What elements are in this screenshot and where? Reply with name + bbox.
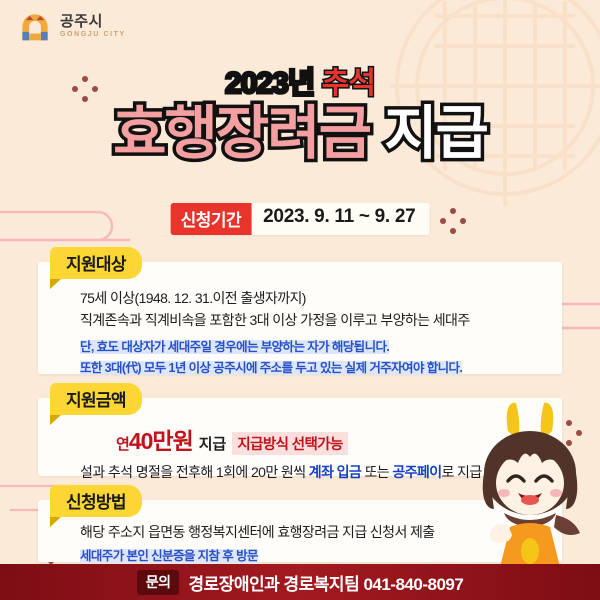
poster-canvas: 공주시 GONGJU CITY 2023년 추석 효행장려금 지급 신청기간 2… (0, 0, 600, 600)
application-period-value: 2023. 9. 11 ~ 9. 27 (251, 203, 429, 235)
eligibility-note-2: 또한 3대(代) 모두 1년 이상 공주시에 주소를 두고 있는 실제 거주자여… (80, 358, 562, 378)
application-period-badge: 신청기간 2023. 9. 11 ~ 9. 27 (171, 203, 430, 235)
eligibility-line-2: 직계존속과 직계비속을 포함한 3대 이상 가정을 이루고 부양하는 세대주 (80, 310, 562, 332)
howto-tab: 신청방법 (50, 485, 142, 517)
logo-english-name: GONGJU CITY (60, 31, 126, 38)
title-action-label: 지급 (370, 101, 487, 166)
eligibility-line-1: 75세 이상(1948. 12. 31.이전 출생자까지) (80, 288, 562, 310)
eligibility-tab: 지원대상 (50, 247, 142, 279)
gongju-gate-logo-icon (18, 10, 52, 42)
city-logo: 공주시 GONGJU CITY (18, 10, 126, 42)
amount-suffix: 지급 (199, 433, 227, 454)
poster-title: 2023년 추석 효행장려금 지급 (0, 58, 600, 165)
eligibility-card: 지원대상 75세 이상(1948. 12. 31.이전 출생자까지) 직계존속과… (38, 262, 562, 374)
title-line-1: 2023년 추석 (0, 58, 600, 102)
amount-tab: 지원금액 (50, 383, 142, 415)
title-line-2: 효행장려금 지급 (0, 104, 600, 165)
gongju-mascot-girl-icon (464, 401, 596, 586)
application-period-label: 신청기간 (171, 203, 252, 235)
payment-method-highlight: 지급방식 선택가능 (232, 432, 347, 455)
title-holiday-label: 추석 (322, 67, 375, 100)
contact-label: 문의 (137, 570, 180, 595)
title-main-label: 효행장려금 (113, 101, 370, 166)
title-year-label: 2023년 (225, 67, 322, 100)
eligibility-note-1: 단, 효도 대상자가 세대주일 경우에는 부양하는 자가 해당됩니다. (80, 337, 562, 357)
amount-value: 연40만원 (116, 422, 193, 456)
diamond-dots-ornament-icon (440, 208, 466, 234)
contact-footer: 문의 경로장애인과 경로복지팀 041-840-8097 (0, 564, 600, 600)
logo-korean-name: 공주시 (60, 14, 126, 29)
contact-value: 경로장애인과 경로복지팀 041-840-8097 (188, 570, 463, 595)
